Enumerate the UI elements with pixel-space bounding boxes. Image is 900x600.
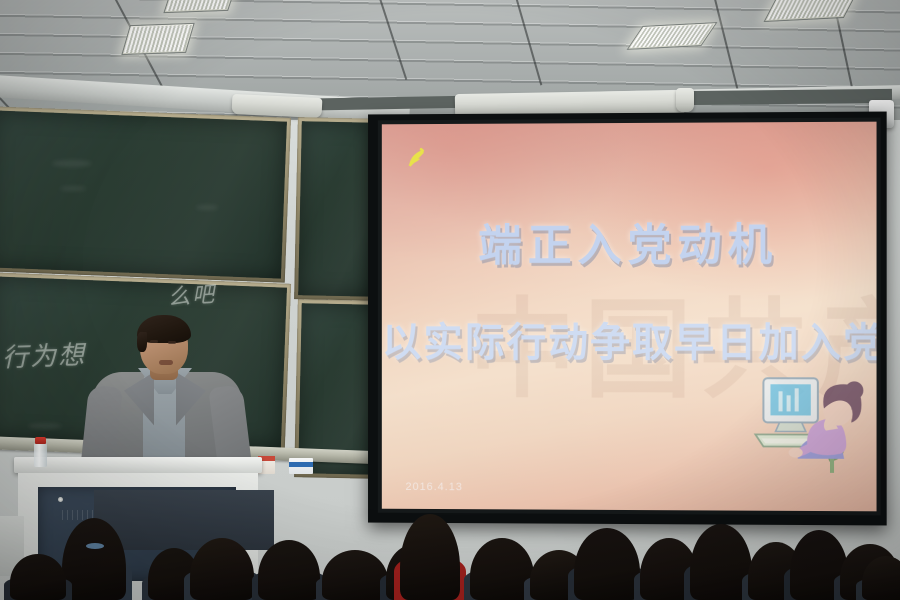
student-silhouette (400, 480, 460, 600)
screen-rail-right (680, 89, 892, 105)
hammer-and-sickle-emblem (404, 146, 430, 170)
presenter-eye-right (168, 341, 176, 344)
chalk-box-band (289, 462, 313, 467)
lectern-top (14, 457, 262, 473)
student-hair (258, 540, 320, 600)
slide-subtitle-block: 以实际行动争取早日加入党组织 (382, 310, 877, 368)
projector-screen: 中国共产党 端正入党动机 以实际行动争取早日 (368, 112, 887, 526)
presentation-slide: 中国共产党 端正入党动机 以实际行动争取早日 (382, 122, 877, 512)
student-silhouette (322, 516, 388, 600)
student-hair (574, 528, 640, 600)
chalk-writing-upper: 么吧 (167, 276, 217, 311)
student-container (0, 490, 900, 600)
screen-roller-housing-right (676, 88, 694, 112)
student-hair (862, 556, 900, 600)
student-hair (190, 538, 254, 600)
person-at-computer-clipart (745, 364, 864, 477)
slide-title-line-1: 端正入党动机 (382, 208, 877, 273)
student-hair-tie (86, 543, 104, 549)
student-silhouette (190, 504, 254, 600)
blackboard-left-upper (0, 110, 287, 278)
presenter-mouth (159, 360, 173, 365)
student-silhouette (258, 506, 320, 600)
student-silhouette (10, 520, 66, 600)
ceiling-light-panel (121, 23, 194, 55)
water-bottle-cap (35, 437, 46, 444)
presenter (86, 316, 256, 476)
screen-bezel: 中国共产党 端正入党动机 以实际行动争取早日 (378, 118, 881, 516)
water-bottle (34, 443, 47, 467)
screen-roller-housing-left (232, 94, 323, 118)
chalk-writing-lower: 行为想 (1, 335, 86, 375)
student-hair (10, 554, 66, 600)
lecture-hall-scene: 么吧 行为想 中国共产党 (0, 0, 900, 600)
student-silhouette (862, 522, 900, 600)
presenter-sideburn (137, 332, 147, 352)
presenter-eye-left (150, 340, 158, 343)
slide-title-block: 端正入党动机 (382, 208, 877, 273)
audience (0, 490, 900, 600)
student-hair (322, 550, 388, 600)
slide-title-line-2: 以实际行动争取早日加入党组织 (382, 310, 877, 368)
student-hair (400, 514, 460, 600)
student-silhouette (574, 494, 640, 600)
